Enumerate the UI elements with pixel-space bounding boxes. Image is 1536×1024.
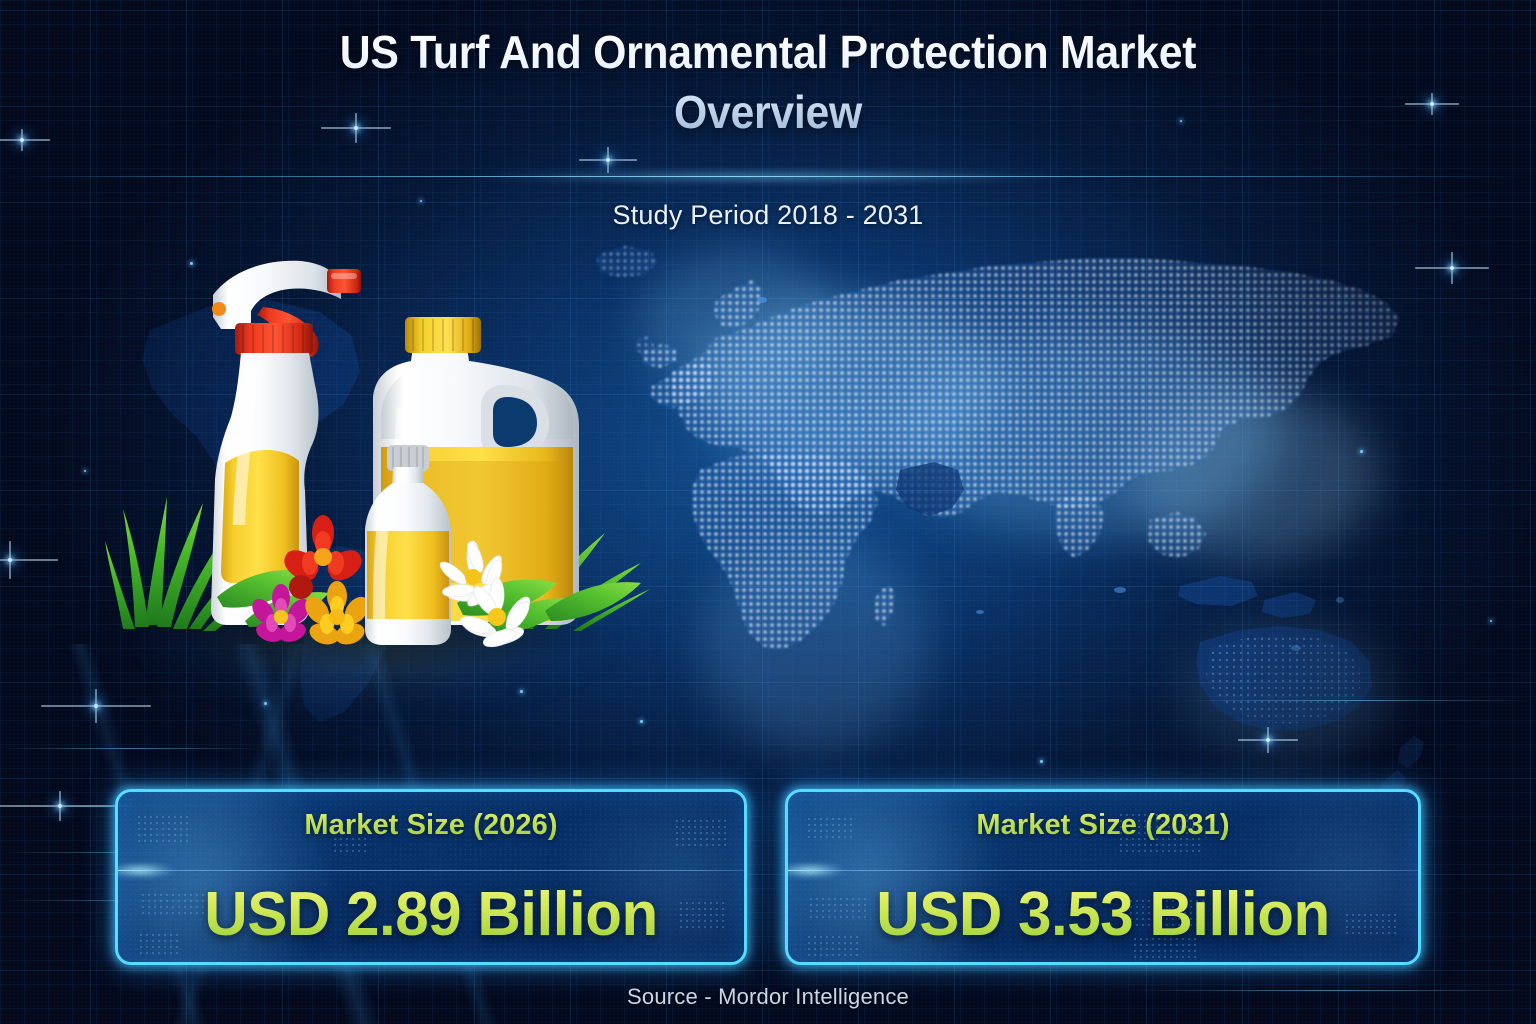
stat-value-2026: USD 2.89 Billion [127,880,734,950]
source-attribution: Source - Mordor Intelligence [0,984,1536,1010]
card-divider [788,870,1418,871]
card-divider [118,870,744,871]
stat-card-2026[interactable]: Market Size (2026) USD 2.89 Billion [115,789,747,965]
stat-label-2026: Market Size (2026) [118,809,744,842]
stat-label-2031: Market Size (2031) [788,809,1418,842]
infographic-root: US Turf And Ornamental Protection Market… [0,0,1536,1024]
stat-cards: Market Size (2026) USD 2.89 Billion Mark… [0,0,1536,1024]
stat-card-2031[interactable]: Market Size (2031) USD 3.53 Billion [785,789,1421,965]
stat-value-2031: USD 3.53 Billion [797,880,1408,950]
